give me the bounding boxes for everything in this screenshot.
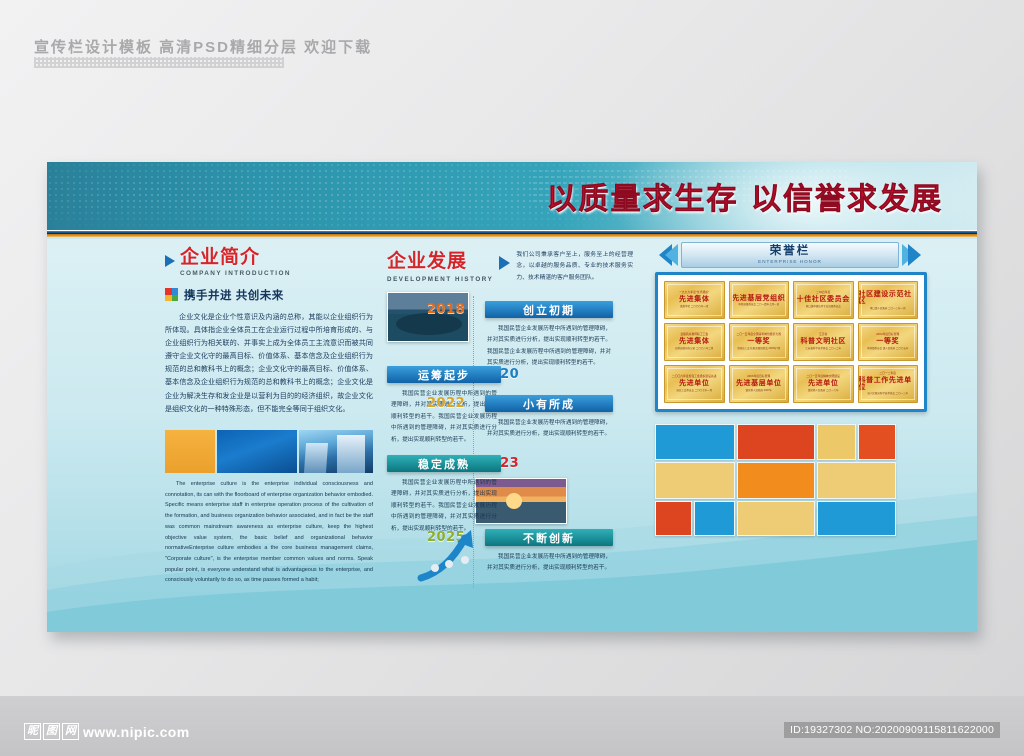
watermark-char: 网	[62, 723, 79, 740]
plaque-bottom-text: 县总工会委员会 二〇〇七年一月	[676, 389, 712, 392]
honor-plaque: 二〇一五年度精神文明建设先进单位镇党委人民政府 二〇一六年	[793, 365, 854, 403]
plaque-main-text: 先进集体	[679, 338, 709, 345]
honor-plaque: 二〇〇六年度加强工会组织建设先进先进单位县总工会委员会 二〇〇七年一月	[664, 365, 725, 403]
chevron-left-icon-2	[665, 244, 678, 266]
top-watermark-strip: 宣传栏设计模板 高清PSD精细分层 欢迎下载	[0, 0, 1024, 96]
color-tile	[694, 501, 735, 536]
plaque-top-text: 县级机关教师职工工会	[680, 334, 708, 337]
timeline-text-2022: 我国民营企业发展历程中所遇到的管理障碍，并对其实质进行分析，提出实现顺利转型的若…	[487, 418, 611, 441]
plaque-top-text: 江苏省	[819, 334, 827, 337]
timeline: 2018 创立初期 我国民营企业发展历程中所遇到的管理障碍，并对其实质进行分析，…	[387, 290, 633, 590]
image-block-orange	[165, 430, 215, 473]
timeline-year-2022: 2022	[427, 396, 465, 411]
footer-bar: 昵图网 www.nipic.com ID:19327302 NO:2020090…	[0, 696, 1024, 756]
honor-title-zh: 荣誉栏	[770, 246, 811, 258]
intro-title-zh: 企业简介	[180, 248, 291, 268]
page-title: 以质量求生存 以信誉求发展	[547, 174, 943, 218]
four-squares-icon	[165, 288, 178, 301]
intro-image-strip	[165, 430, 373, 473]
template-tagline: 宣传栏设计模板 高清PSD精细分层 欢迎下载	[34, 36, 372, 57]
timeline-label-2023: 稳定成熟	[387, 455, 501, 472]
honor-plaque: 一九九九年度"优秀组织"先进集体颁发单位 二〇〇〇年一月	[664, 281, 725, 319]
triangle-bullet-icon-dev	[499, 256, 510, 270]
intro-heading: 企业简介 COMPANY INTRODUCTION	[165, 248, 373, 277]
plaque-top-text: 二〇〇六年度加强工会组织建设先进	[672, 376, 717, 379]
triangle-bullet-icon	[165, 255, 175, 267]
timeline-label-2018: 创立初期	[485, 301, 613, 318]
color-tile	[737, 501, 815, 536]
tagline-dot-underline	[34, 57, 284, 68]
development-history-section: 企业发展 DEVELOPMENT HISTORY 我们公司秉承客户至上，服务至上…	[387, 246, 633, 284]
development-title-en: DEVELOPMENT HISTORY	[387, 276, 493, 283]
honor-plaque: 二〇一二年度科普工作先进单位县人民政府科学技术协会 二〇一三年	[858, 365, 919, 403]
color-tile	[737, 424, 815, 460]
intro-body-chinese: 企业文化是企业个性意识及内涵的总称，其能以企业组织行为所体现。具体指企业全体员工…	[165, 310, 373, 415]
color-tile	[655, 424, 735, 460]
header-divider-rule	[47, 230, 977, 239]
plaque-bottom-text: 颁发单位 二〇〇〇年一月	[680, 305, 708, 308]
site-watermark: 昵图网 www.nipic.com	[24, 723, 190, 740]
honor-banner: 荣誉栏 ENTERPRISE HONOR	[659, 240, 921, 270]
watermark-logo-cn: 昵图网	[24, 723, 79, 740]
plaque-bottom-text: 县委县政府办公室 二〇〇八年二月	[675, 347, 713, 350]
chevron-right-icon-2	[908, 244, 921, 266]
plaque-bottom-text: 镇党委人民政府 二〇一六年	[808, 389, 839, 392]
plaque-bottom-text: 全国总工会 技能竞赛组委会 2015年7月	[737, 347, 780, 350]
honor-title-en: ENTERPRISE HONOR	[758, 259, 822, 264]
honor-plaque: 社区建设示范社区港口镇人民政府 二〇一三年一月	[858, 281, 919, 319]
honor-plaque: 县级机关教师职工工会先进集体县委县政府办公室 二〇〇八年二月	[664, 323, 725, 361]
timeline-text-2018: 我国民营企业发展历程中所遇到的管理障碍，并对其实质进行分析，提出实现顺利转型的若…	[487, 324, 611, 370]
plaque-main-text: 一等奖	[747, 338, 770, 345]
plaque-main-text: 先进基层单位	[736, 380, 782, 387]
plaque-top-text: 二〇一五年度精神文明建设	[807, 376, 840, 379]
display-board: 以质量求生存 以信誉求发展 企业简介 COMPANY INTRODUCTION	[47, 162, 977, 632]
growth-arrow-icon	[413, 526, 483, 584]
plaque-main-text: 社区建设示范社区	[859, 291, 918, 305]
watermark-char: 图	[43, 723, 60, 740]
development-heading: 企业发展 DEVELOPMENT HISTORY 我们公司秉承客户至上，服务至上…	[387, 246, 633, 284]
plaque-bottom-text: 镇党委人民政府 2007年	[746, 389, 772, 392]
intro-title-en: COMPANY INTRODUCTION	[180, 270, 291, 277]
plaque-bottom-text: 港口镇中级技术专业治理委员会	[806, 305, 841, 308]
plaque-main-text: 先进集体	[679, 296, 709, 303]
plaque-top-text: 二00四年度	[816, 292, 830, 295]
honor-certificates-box: 一九九九年度"优秀组织"先进集体颁发单位 二〇〇〇年一月先进基层党组织中共县级委…	[655, 272, 927, 412]
plaque-top-text: 2004年度目标管理	[876, 334, 899, 337]
plaque-main-text: 科普文明社区	[800, 338, 846, 345]
honor-banner-plate: 荣誉栏 ENTERPRISE HONOR	[681, 242, 899, 268]
plaque-bottom-text: 港口镇人民政府 二〇一三年一月	[870, 307, 906, 310]
plaque-top-text: 2006年度目标管理	[747, 376, 770, 379]
honor-plaque: 2004年度目标管理一等奖中共镇委员会 镇人民政府 二〇〇五年	[858, 323, 919, 361]
color-tile	[817, 501, 896, 536]
development-intro-text: 我们公司秉承客户至上，服务至上的经营理念，以卓越的服务品质、专业的技术服务实力、…	[516, 246, 633, 284]
image-id-badge: ID:19327302 NO:20200909115811622000	[784, 722, 1000, 738]
timeline-label-2022: 小有所成	[485, 395, 613, 412]
plaque-bottom-text: 中共县级委员会 二〇一四年七月一日	[738, 303, 779, 306]
timeline-label-2025: 不断创新	[485, 529, 613, 546]
timeline-year-2018: 2018	[427, 302, 465, 317]
plaque-main-text: 十佳社区委员会	[797, 296, 850, 303]
watermark-char: 昵	[24, 723, 41, 740]
timeline-text-2025: 我国民营企业发展历程中所遇到的管理障碍，并对其实质进行分析，提出实现顺利转型的若…	[487, 552, 611, 575]
plaque-top-text: 一九九九年度"优秀组织"	[679, 292, 709, 295]
plaque-main-text: 先进单位	[679, 380, 709, 387]
color-tile	[817, 462, 896, 499]
development-title-zh: 企业发展	[387, 246, 493, 273]
color-tile	[817, 424, 856, 460]
plaque-top-text: 二〇一五年度全国青年岗位能手大赛	[736, 334, 781, 337]
color-tile	[737, 462, 815, 499]
plaque-bottom-text: 县人民政府科学技术协会 二〇一三年	[867, 392, 908, 395]
plaque-top-text: 二〇一二年度	[879, 373, 896, 376]
plaque-main-text: 先进单位	[808, 380, 838, 387]
plaque-main-text: 先进基层党组织	[732, 295, 785, 302]
image-block-blue	[217, 430, 297, 473]
intro-body-english: The enterprise culture is the enterprise…	[165, 479, 373, 586]
honor-plaque: 二〇一五年度全国青年岗位能手大赛一等奖全国总工会 技能竞赛组委会 2015年7月	[729, 323, 790, 361]
honor-plaque: 江苏省科普文明社区江苏省科学技术协会 二〇一二年	[793, 323, 854, 361]
timeline-photo-city	[387, 292, 469, 342]
honor-plaque: 2006年度目标管理先进基层单位镇党委人民政府 2007年	[729, 365, 790, 403]
honor-plaque-grid: 一九九九年度"优秀组织"先进集体颁发单位 二〇〇〇年一月先进基层党组织中共县级委…	[664, 281, 918, 403]
plaque-main-text: 一等奖	[876, 338, 899, 345]
plaque-main-text: 科普工作先进单位	[859, 377, 918, 391]
intro-subtitle: 携手并进 共创未来	[184, 287, 284, 303]
color-tile	[655, 462, 735, 499]
color-tile	[858, 424, 896, 460]
plaque-bottom-text: 中共镇委员会 镇人民政府 二〇〇五年	[867, 347, 908, 350]
honor-plaque: 先进基层党组织中共县级委员会 二〇一四年七月一日	[729, 281, 790, 319]
company-introduction-section: 企业简介 COMPANY INTRODUCTION 携手并进 共创未来 企业文化…	[165, 248, 373, 415]
intro-subtitle-row: 携手并进 共创未来	[165, 287, 373, 303]
color-tile-grid	[655, 424, 927, 536]
honor-plaque: 二00四年度十佳社区委员会港口镇中级技术专业治理委员会	[793, 281, 854, 319]
image-skyscrapers-photo	[299, 430, 373, 473]
plaque-bottom-text: 江苏省科学技术协会 二〇一二年	[805, 347, 841, 350]
timeline-label-2020: 运筹起步	[387, 366, 501, 383]
watermark-url: www.nipic.com	[83, 724, 190, 740]
color-tile	[655, 501, 692, 536]
